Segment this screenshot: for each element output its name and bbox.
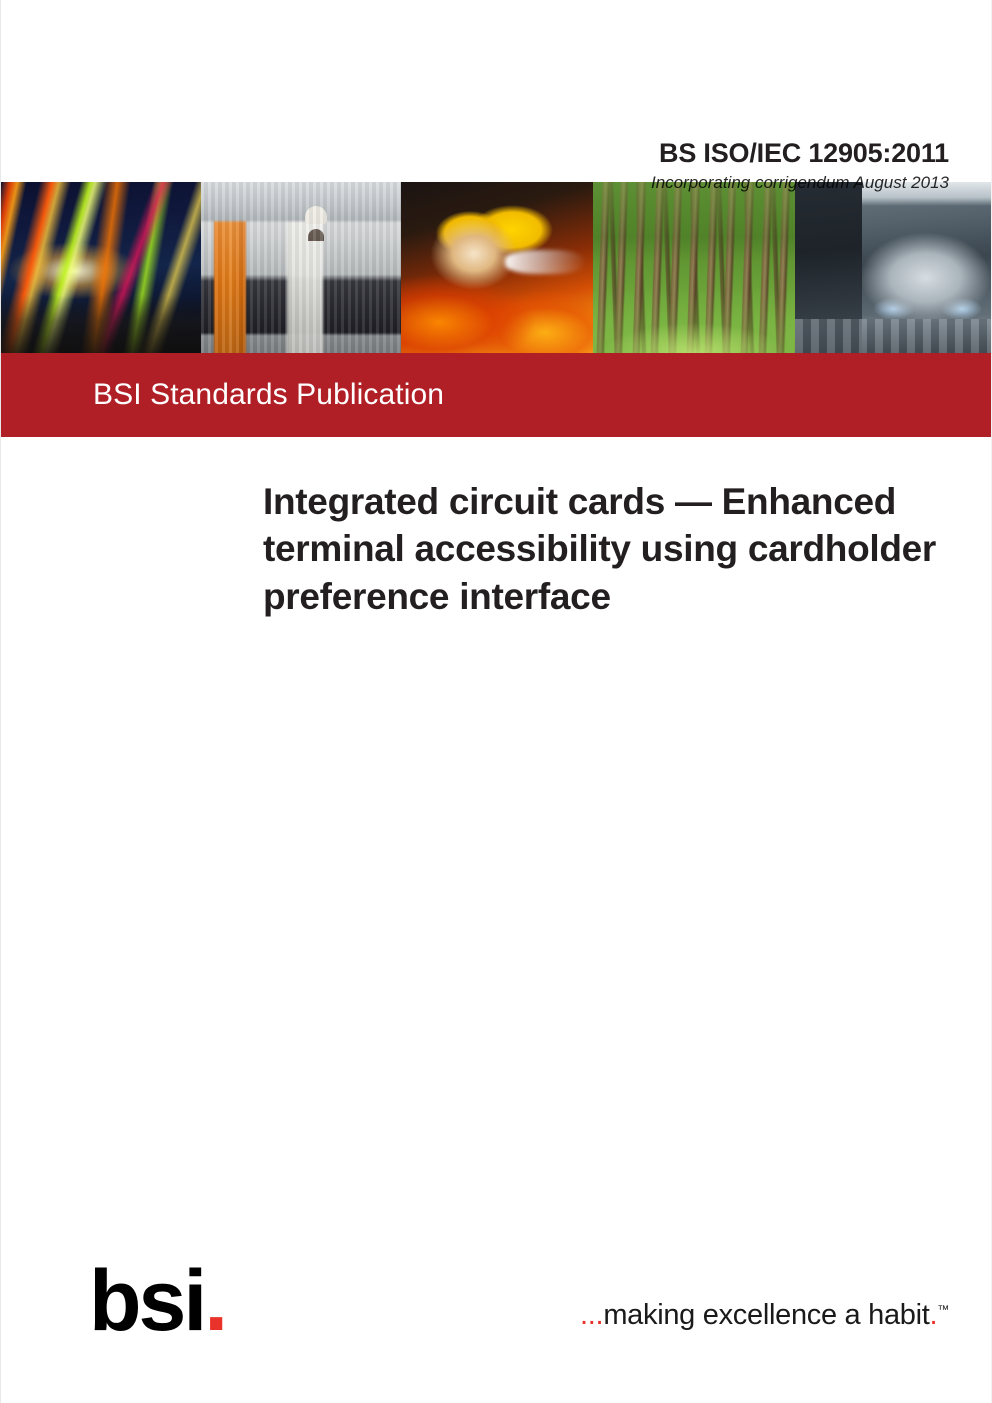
photo-panel-warehouse-worker bbox=[201, 182, 401, 353]
bsi-logo-wordmark: bsi bbox=[89, 1253, 204, 1349]
bsi-logo-red-dot: . bbox=[204, 1253, 225, 1349]
photo-panel-forest-of-tall-trees bbox=[593, 182, 795, 353]
bsi-logo: bsi. bbox=[89, 1258, 225, 1344]
photo-panel-firefighters-with-hose bbox=[401, 182, 593, 353]
bsi-tagline: ...making excellence a habit.™ bbox=[580, 1299, 949, 1332]
photo-panel-car-assembly-line bbox=[795, 182, 992, 353]
cover-photo-strip bbox=[1, 182, 992, 353]
bsi-standards-publication-banner: BSI Standards Publication bbox=[1, 353, 992, 437]
tagline-leading-ellipsis: ... bbox=[580, 1299, 603, 1331]
photo-panel-night-traffic-light-trails bbox=[1, 182, 201, 353]
corrigendum-note: Incorporating corrigendum August 2013 bbox=[249, 174, 949, 193]
standard-number: BS ISO/IEC 12905:2011 bbox=[249, 139, 949, 169]
banner-label: BSI Standards Publication bbox=[93, 378, 444, 412]
tagline-text: making excellence a habit bbox=[603, 1299, 929, 1331]
trademark-icon: ™ bbox=[937, 1302, 949, 1316]
document-cover-page: BS ISO/IEC 12905:2011 Incorporating corr… bbox=[0, 0, 992, 1403]
document-title: Integrated circuit cards — Enhanced term… bbox=[263, 478, 943, 620]
